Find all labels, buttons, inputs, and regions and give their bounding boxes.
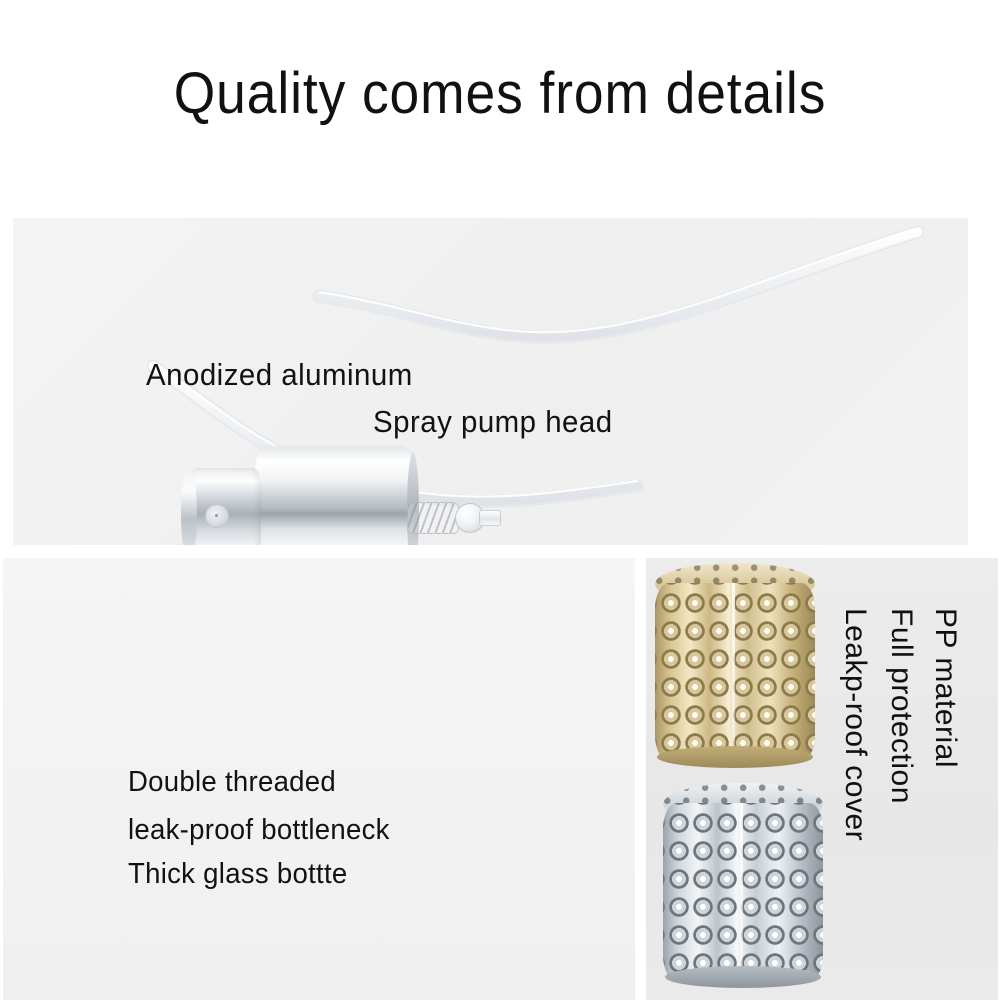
silver-spray-pump [189, 446, 529, 545]
nozzle-button-icon [205, 504, 229, 528]
gold-rhinestone-cap [655, 563, 815, 768]
ribbed-connector [407, 496, 493, 540]
rhinestone-grid [663, 803, 823, 981]
silver-rhinestone-cap [663, 783, 823, 988]
label-leak-proof-bottleneck: leak-proof bottleneck [128, 814, 390, 847]
connector-ribs [407, 502, 459, 534]
pump-cap [189, 468, 261, 545]
infographic-page: Quality comes from details [0, 0, 1000, 1000]
cap-highlight-seam [740, 803, 743, 981]
cap-highlight-seam [732, 583, 735, 761]
page-title: Quality comes from details [40, 62, 960, 126]
label-leak-proof-cover: Leakp-roof cover [838, 608, 872, 841]
label-thick-glass-bottle: Thick glass bottte [128, 858, 348, 891]
label-double-threaded: Double threaded [128, 766, 336, 799]
cap-bottom-rim [665, 966, 821, 988]
label-full-protection: Full protection [884, 608, 918, 804]
label-anodized-aluminum: Anodized aluminum [146, 357, 413, 393]
cap-barrel [655, 583, 815, 761]
connector-stub [479, 510, 501, 526]
rhinestone-grid [655, 583, 815, 761]
cap-barrel [663, 803, 823, 981]
cap-bottom-rim [657, 746, 813, 768]
label-spray-pump-head: Spray pump head [373, 404, 613, 440]
pump-body [255, 446, 413, 545]
label-pp-material: PP material [928, 608, 962, 768]
